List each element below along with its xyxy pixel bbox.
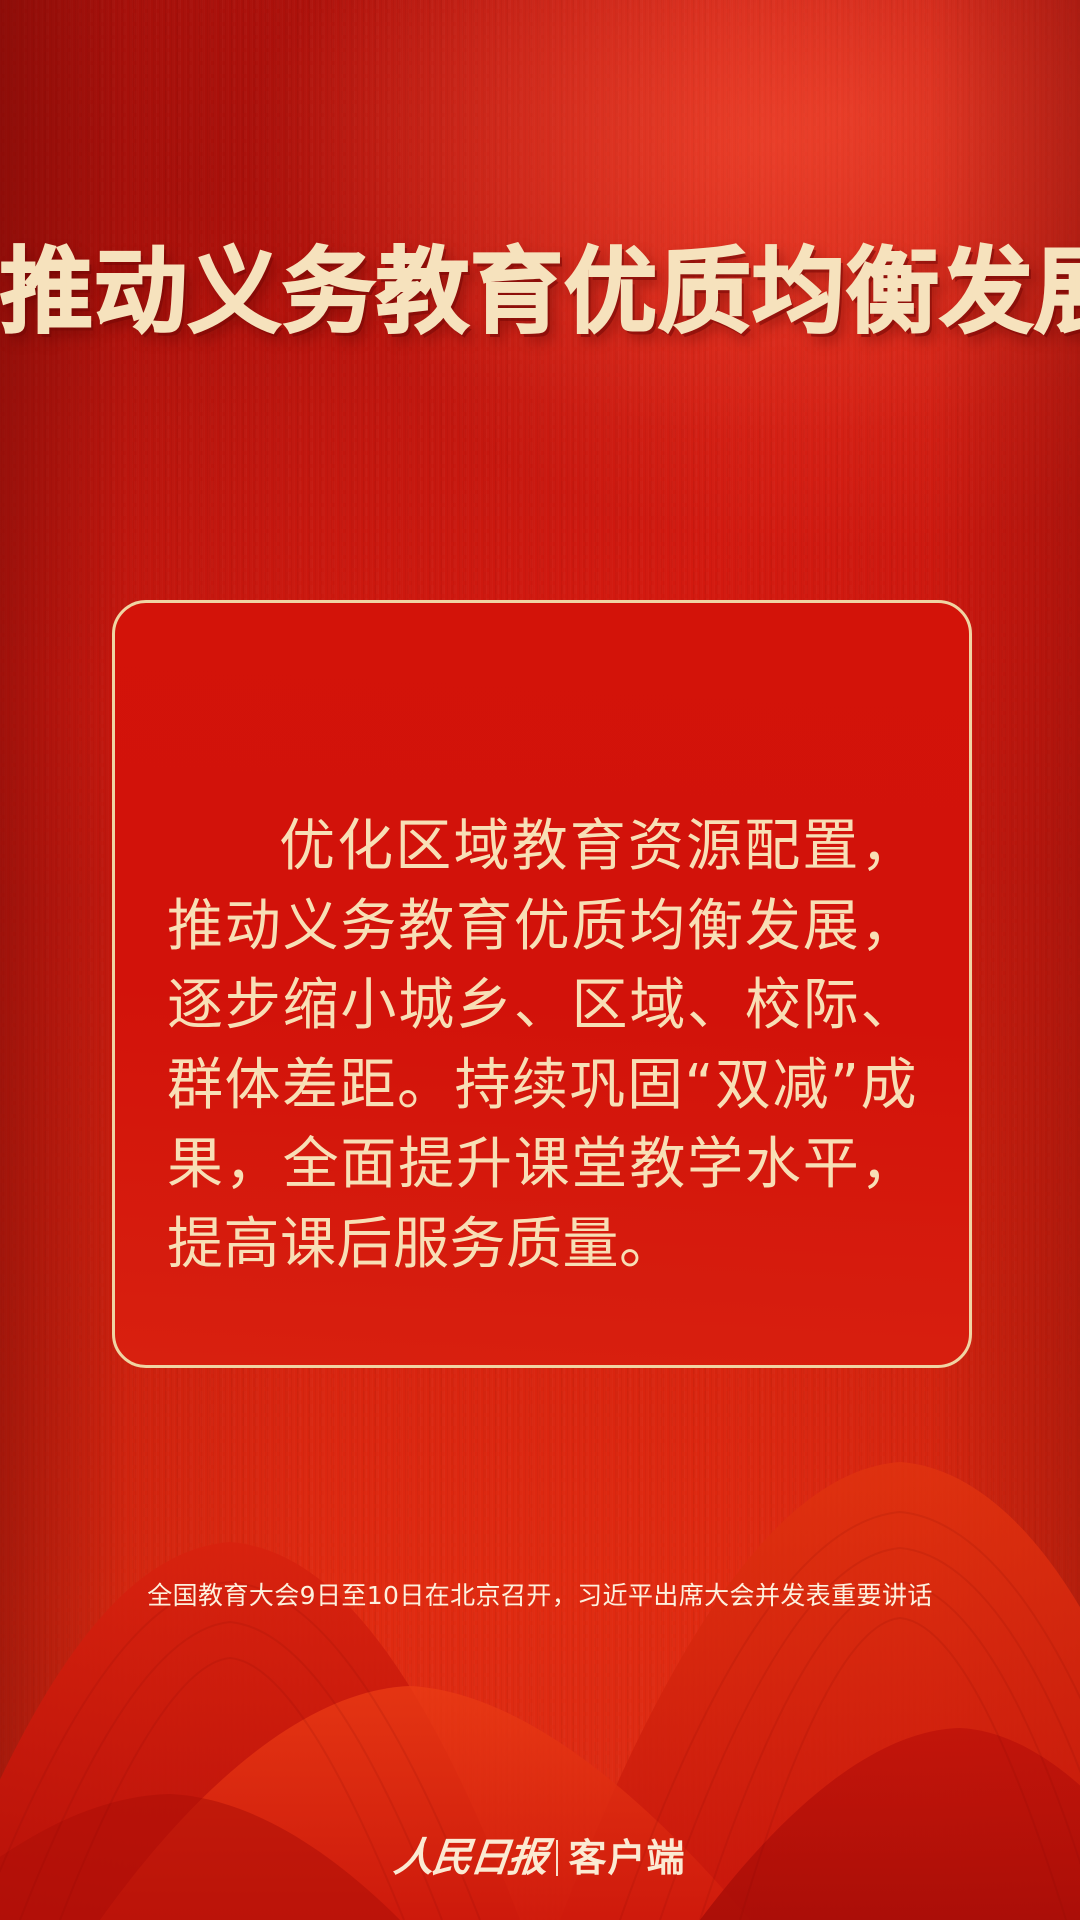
- poster-root: 推动义务教育优质均衡发展 优化区域教育资源配置，推动义务教育优质均衡发展，逐步缩…: [0, 0, 1080, 1920]
- peoples-daily-wordmark: 人民日报: [392, 1838, 548, 1878]
- caption-text: 全国教育大会9日至10日在北京召开，习近平出席大会并发表重要讲话: [0, 1578, 1080, 1613]
- client-app-label: 客户端: [568, 1839, 685, 1877]
- page-title: 推动义务教育优质均衡发展: [0, 244, 1080, 341]
- quote-card: 优化区域教育资源配置，推动义务教育优质均衡发展，逐步缩小城乡、区域、校际、群体差…: [112, 600, 972, 1368]
- quote-text: 优化区域教育资源配置，推动义务教育优质均衡发展，逐步缩小城乡、区域、校际、群体差…: [167, 807, 917, 1284]
- publisher-logo: 人民日报 客户端: [0, 1838, 1080, 1878]
- logo-divider-icon: [556, 1840, 558, 1876]
